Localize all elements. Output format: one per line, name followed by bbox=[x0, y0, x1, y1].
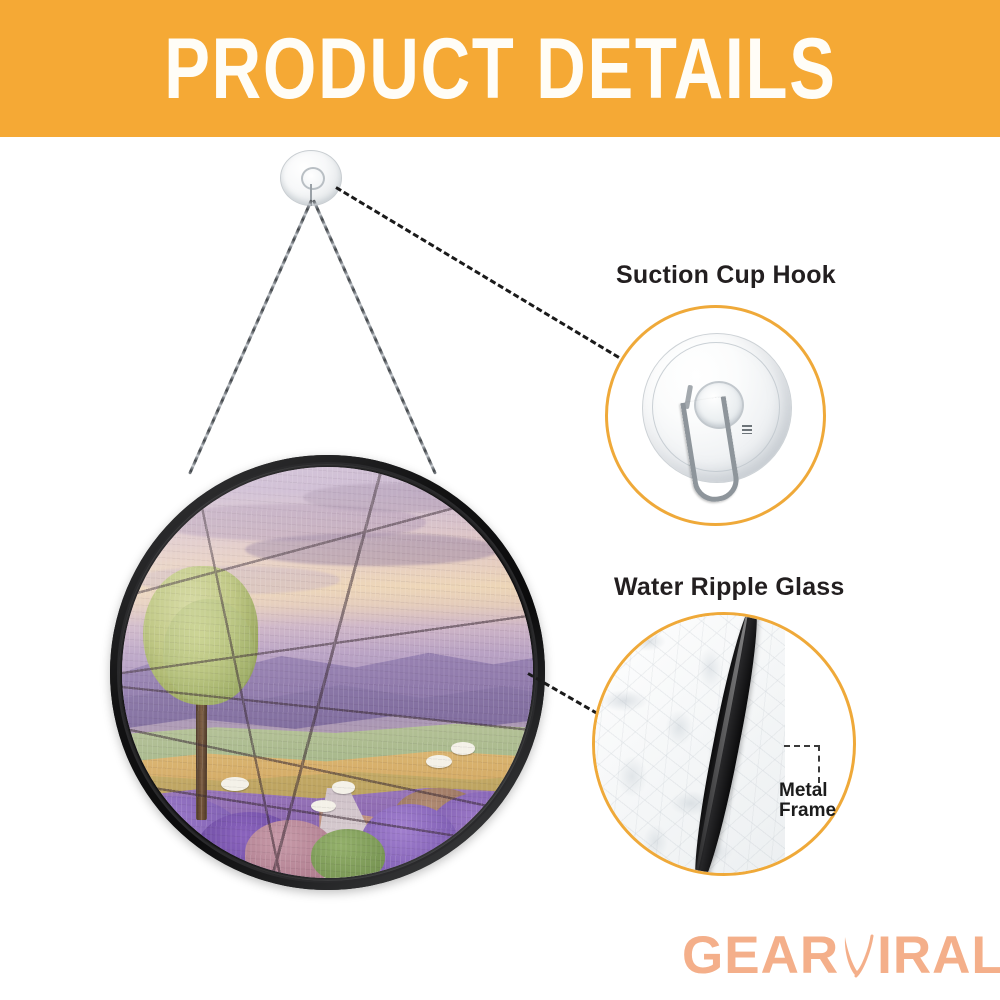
product-details-page: PRODUCT DETAILS bbox=[0, 0, 1000, 1000]
metal-frame-label-line-2: Frame bbox=[779, 801, 836, 821]
suction-cup-hook-image bbox=[642, 333, 792, 483]
callout-label-water-ripple-glass: Water Ripple Glass bbox=[614, 573, 845, 602]
brand-name-part-2: IRAL bbox=[877, 925, 1000, 986]
callout-circle-water-ripple-glass bbox=[592, 612, 856, 876]
stained-glass-artwork bbox=[122, 467, 533, 878]
artwork-gloss bbox=[122, 467, 533, 878]
hanging-chain-left bbox=[188, 199, 313, 474]
leader-line-suction-cup bbox=[335, 186, 619, 359]
water-ripple-glass-texture bbox=[592, 612, 785, 876]
callout-label-suction-cup-hook: Suction Cup Hook bbox=[616, 261, 836, 290]
brand-name-part-1: GEAR bbox=[682, 925, 839, 986]
suction-cup-ring bbox=[301, 167, 325, 190]
metal-frame-annotation: Metal Frame bbox=[779, 781, 836, 821]
brand-logo: GEAR IRAL bbox=[682, 925, 1000, 986]
callout-circle-suction-cup-hook bbox=[605, 305, 826, 526]
hanging-chain-right bbox=[312, 199, 437, 474]
suction-cup-marking bbox=[742, 425, 752, 434]
metal-frame-label-line-1: Metal bbox=[779, 781, 836, 801]
suncatcher-product bbox=[110, 455, 545, 890]
metal-frame-leader-line bbox=[784, 745, 820, 783]
page-title: PRODUCT DETAILS bbox=[164, 26, 837, 112]
ripple-facets bbox=[592, 612, 785, 876]
top-suction-cup bbox=[280, 150, 342, 206]
header-banner: PRODUCT DETAILS bbox=[0, 0, 1000, 137]
brand-v-check-icon bbox=[841, 931, 875, 981]
